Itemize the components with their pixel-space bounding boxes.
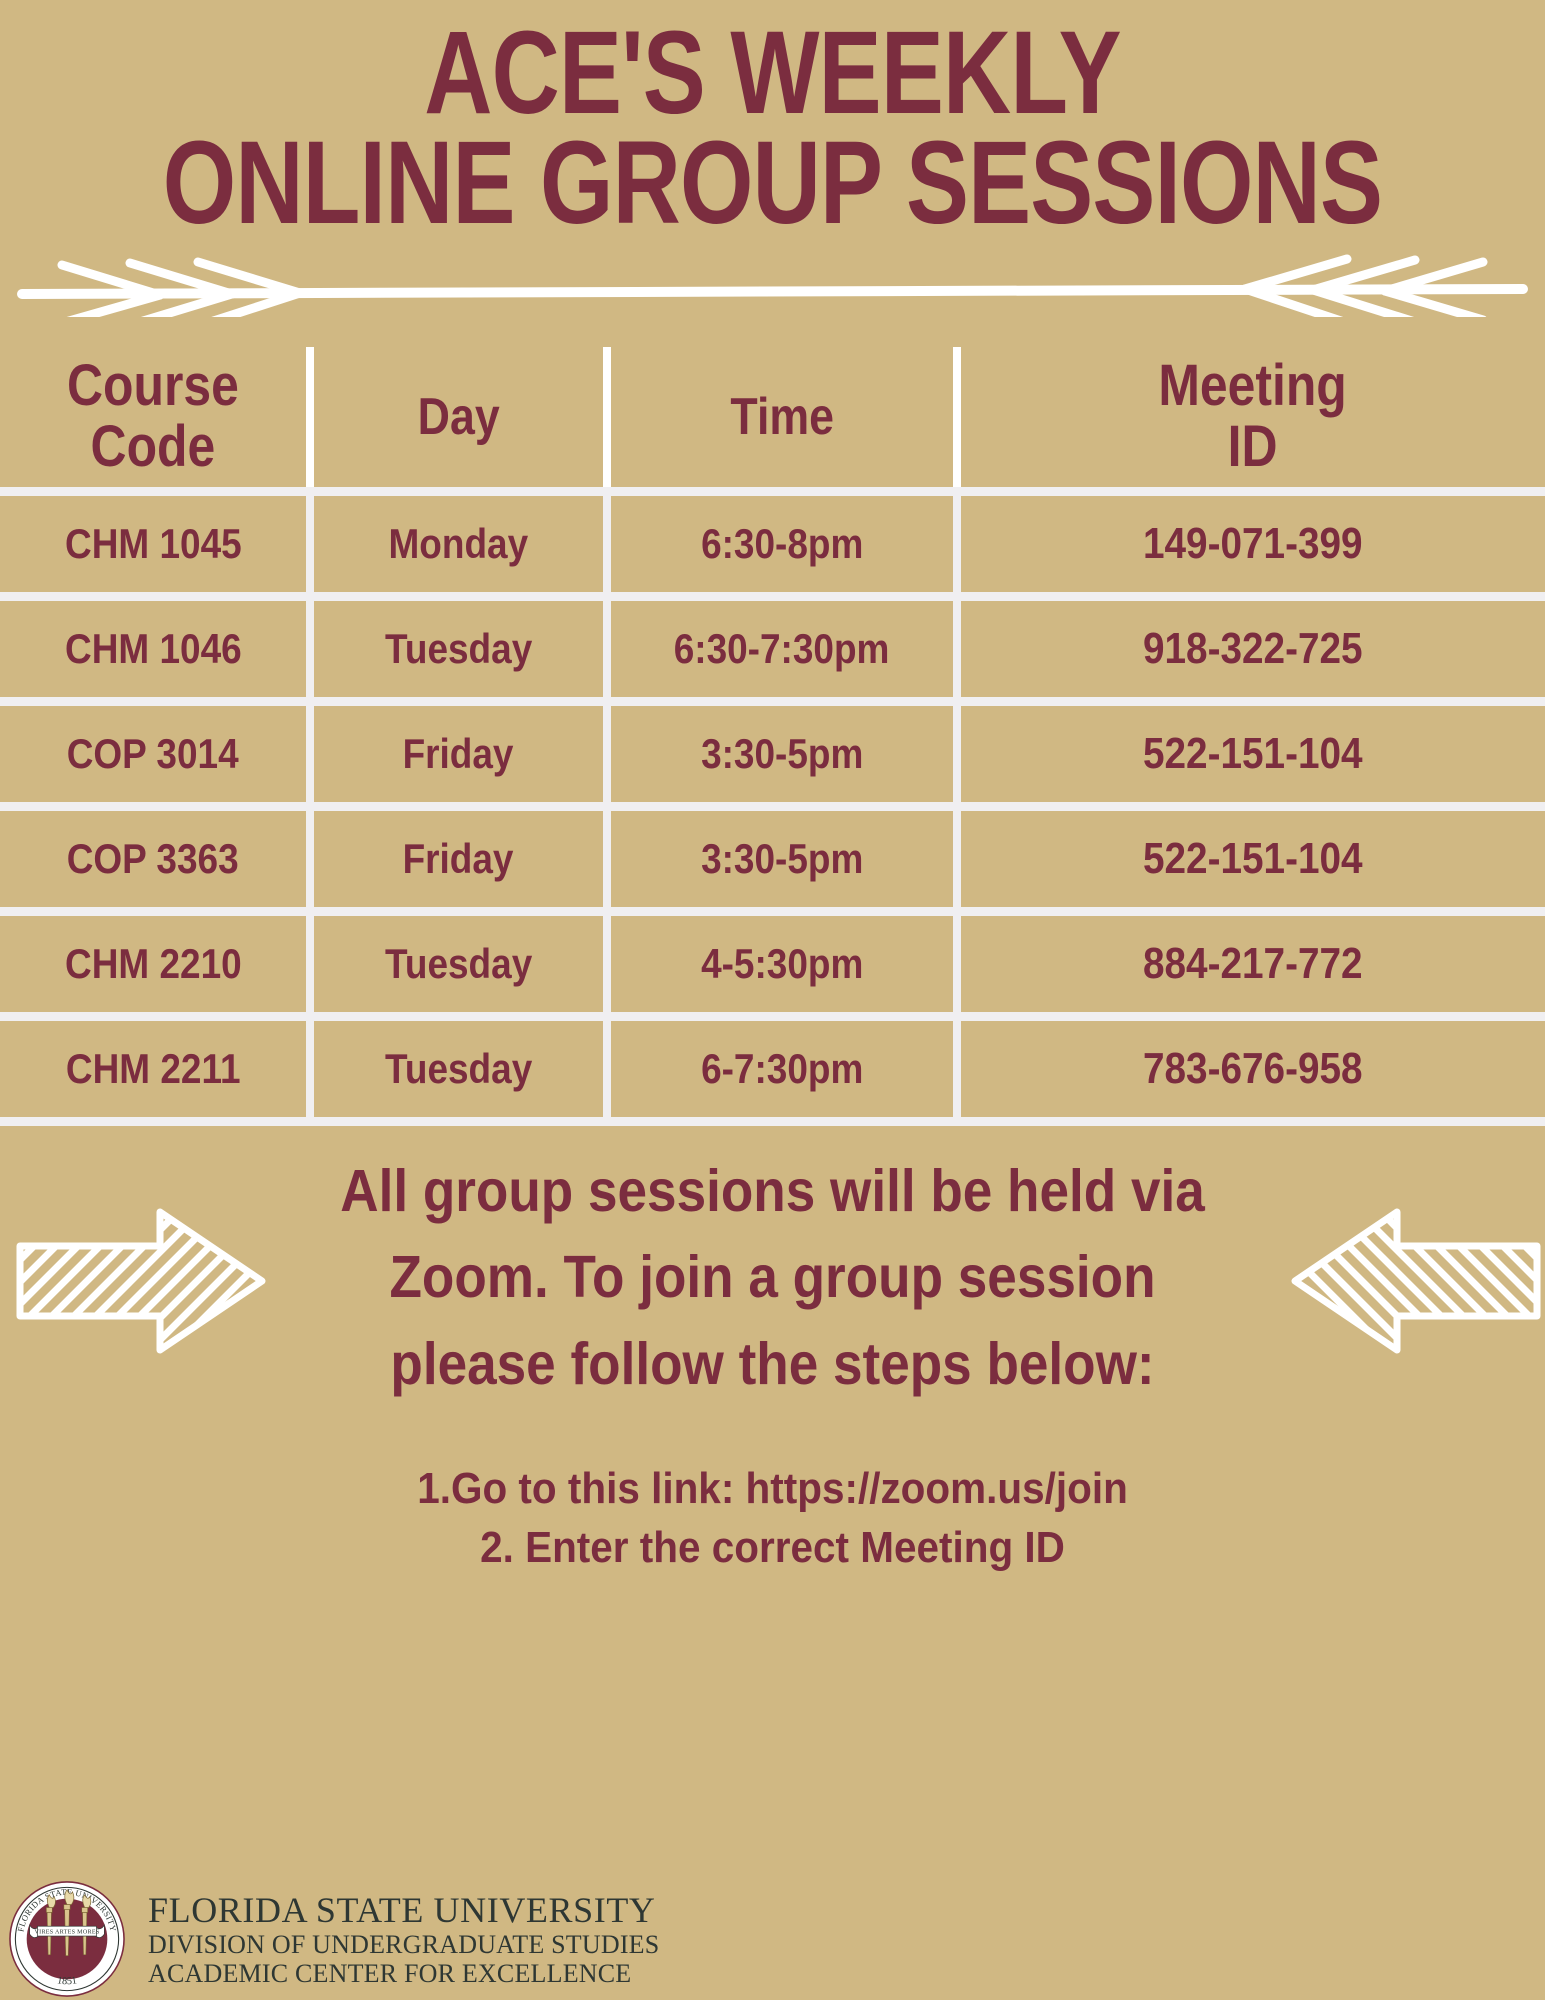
course-code-value: COP 3363 [67, 835, 239, 883]
meeting-id-value: 522-151-104 [1143, 834, 1363, 884]
page-title-line-1: ACE'S WEEKLY [155, 16, 1391, 132]
schedule-table: Course Code Day Time Meeting ID CHM 1045… [0, 347, 1545, 1126]
cell-course-code: COP 3363 [0, 807, 310, 912]
svg-text:VIRES ARTES MORES: VIRES ARTES MORES [34, 1930, 99, 1936]
steps-list: 1.Go to this link: https://zoom.us/join … [0, 1460, 1545, 1578]
table-row: CHM 2211 Tuesday 6-7:30pm 783-676-958 [0, 1017, 1545, 1122]
table-row: CHM 1046 Tuesday 6:30-7:30pm 918-322-725 [0, 597, 1545, 702]
table-row: CHM 1045 Monday 6:30-8pm 149-071-399 [0, 492, 1545, 597]
course-code-value: CHM 2210 [65, 940, 242, 988]
day-value: Friday [403, 730, 514, 778]
cell-day: Friday [310, 807, 607, 912]
arrow-line-divider [0, 247, 1545, 317]
day-value: Tuesday [385, 1045, 532, 1093]
step-item-1[interactable]: 1.Go to this link: https://zoom.us/join [62, 1460, 1483, 1519]
table-row: COP 3363 Friday 3:30-5pm 522-151-104 [0, 807, 1545, 912]
cell-day: Friday [310, 702, 607, 807]
column-header-time: Time [607, 347, 957, 492]
cell-day: Tuesday [310, 1017, 607, 1122]
cell-meeting-id: 783-676-958 [957, 1017, 1545, 1122]
time-value: 6:30-7:30pm [674, 625, 890, 673]
footer-branding: FLORIDA STATE UNIVERSITY 1851 [8, 1878, 659, 2000]
time-value: 3:30-5pm [701, 730, 863, 778]
day-value: Friday [403, 835, 514, 883]
column-header-time-label: Time [730, 390, 834, 445]
column-header-meeting-id: Meeting ID [957, 347, 1545, 492]
time-value: 4-5:30pm [701, 940, 863, 988]
footer-division-name: DIVISION OF UNDERGRADUATE STUDIES [148, 1930, 659, 1959]
meeting-id-value: 884-217-772 [1143, 939, 1363, 989]
table-row: COP 3014 Friday 3:30-5pm 522-151-104 [0, 702, 1545, 807]
notice-line-2: Zoom. To join a group session [77, 1234, 1468, 1320]
cell-meeting-id: 884-217-772 [957, 912, 1545, 1017]
cell-course-code: CHM 1045 [0, 492, 310, 597]
cell-time: 6:30-8pm [607, 492, 957, 597]
day-value: Tuesday [385, 940, 532, 988]
footer-center-name: ACADEMIC CENTER FOR EXCELLENCE [148, 1959, 659, 1988]
notice-section: All group sessions will be held via Zoom… [0, 1148, 1545, 1398]
meeting-id-value: 918-322-725 [1143, 624, 1363, 674]
notice-line-3: please follow the steps below: [77, 1321, 1468, 1407]
course-code-value: CHM 2211 [66, 1045, 241, 1093]
meeting-id-value: 522-151-104 [1143, 729, 1363, 779]
step-item-2: 2. Enter the correct Meeting ID [62, 1519, 1483, 1578]
course-code-value: CHM 1046 [65, 625, 242, 673]
cell-meeting-id: 522-151-104 [957, 702, 1545, 807]
footer-university-name: FLORIDA STATE UNIVERSITY [148, 1890, 659, 1930]
course-code-value: CHM 1045 [65, 520, 242, 568]
cell-day: Tuesday [310, 597, 607, 702]
column-header-course-code-label: Course Code [67, 356, 239, 478]
cell-time: 3:30-5pm [607, 807, 957, 912]
poster-title: ACE'S WEEKLY ONLINE GROUP SESSIONS [0, 0, 1545, 241]
cell-day: Monday [310, 492, 607, 597]
double-arrow-line-divider-icon [0, 247, 1545, 317]
column-header-day: Day [310, 347, 607, 492]
table-row: CHM 2210 Tuesday 4-5:30pm 884-217-772 [0, 912, 1545, 1017]
cell-time: 6:30-7:30pm [607, 597, 957, 702]
notice-line-1: All group sessions will be held via [77, 1148, 1468, 1234]
time-value: 6-7:30pm [701, 1045, 863, 1093]
column-header-course-code: Course Code [0, 347, 310, 492]
day-value: Tuesday [385, 625, 532, 673]
meeting-id-value: 783-676-958 [1143, 1044, 1363, 1094]
cell-day: Tuesday [310, 912, 607, 1017]
day-value: Monday [389, 520, 529, 568]
cell-time: 4-5:30pm [607, 912, 957, 1017]
column-header-meeting-id-label: Meeting ID [1159, 356, 1347, 478]
table-header-row: Course Code Day Time Meeting ID [0, 347, 1545, 492]
cell-course-code: CHM 1046 [0, 597, 310, 702]
course-code-value: COP 3014 [67, 730, 239, 778]
cell-time: 6-7:30pm [607, 1017, 957, 1122]
cell-meeting-id: 918-322-725 [957, 597, 1545, 702]
column-header-day-label: Day [417, 390, 499, 445]
meeting-id-value: 149-071-399 [1143, 519, 1363, 569]
notice-text: All group sessions will be held via Zoom… [77, 1148, 1468, 1406]
cell-meeting-id: 149-071-399 [957, 492, 1545, 597]
cell-meeting-id: 522-151-104 [957, 807, 1545, 912]
cell-course-code: CHM 2210 [0, 912, 310, 1017]
time-value: 3:30-5pm [701, 835, 863, 883]
fsu-seal-icon: FLORIDA STATE UNIVERSITY 1851 [8, 1880, 126, 1998]
cell-course-code: COP 3014 [0, 702, 310, 807]
cell-time: 3:30-5pm [607, 702, 957, 807]
cell-course-code: CHM 2211 [0, 1017, 310, 1122]
time-value: 6:30-8pm [701, 520, 863, 568]
page-title-line-2: ONLINE GROUP SESSIONS [155, 126, 1391, 242]
